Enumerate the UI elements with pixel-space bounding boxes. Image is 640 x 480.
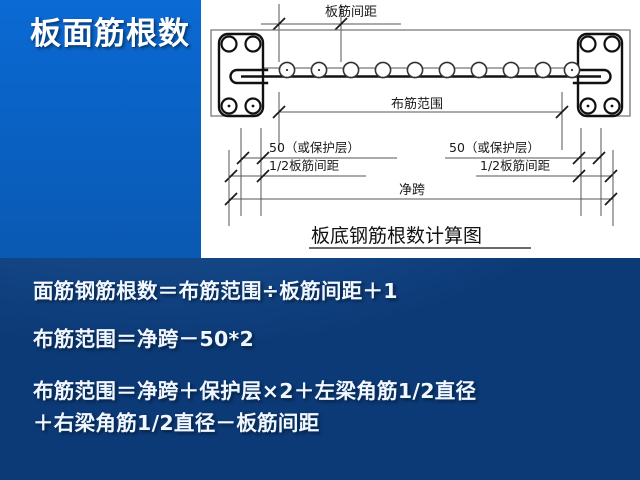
corner-bar — [605, 37, 620, 52]
formula-line-2: 布筋范围＝净跨－50*2 — [33, 322, 254, 352]
formula-list: 面筋钢筋根数＝布筋范围÷板筋间距＋1 布筋范围＝净跨－50*2 布筋范围＝净跨＋… — [0, 262, 640, 480]
label-layout-range: 布筋范围 — [391, 96, 443, 112]
label-bar-spacing: 板筋间距 — [325, 4, 377, 20]
caption-text: 板底钢筋根数计算图 — [311, 225, 482, 247]
page-title: 板面筋根数 — [30, 8, 190, 53]
slide-root: 板面筋根数 板筋间距 — [0, 0, 640, 480]
left-beam-section — [219, 34, 267, 116]
corner-bar — [222, 37, 237, 52]
formula-line-3b: ＋右梁角筋1/2直径－板筋间距 — [33, 406, 320, 436]
corner-bar — [246, 37, 261, 52]
slab-rebar — [241, 62, 601, 77]
right-beam-section — [574, 34, 622, 116]
label-clear-span: 净跨 — [399, 183, 425, 198]
label-half-spacing-left: 1/2板筋间距 — [269, 158, 339, 173]
bar-spacing-dimension: 板筋间距 — [261, 4, 401, 62]
corner-bar — [581, 37, 596, 52]
formula-line-1: 面筋钢筋根数＝布筋范围÷板筋间距＋1 — [33, 274, 398, 304]
label-cover-left: 50（或保护层） — [269, 140, 360, 155]
title-panel: 板面筋根数 — [0, 0, 201, 258]
slab-rebar-diagram: 板筋间距 — [201, 0, 640, 258]
formula-line-3a: 布筋范围＝净跨＋保护层×2＋左梁角筋1/2直径 — [33, 374, 476, 404]
label-half-spacing-right: 1/2板筋间距 — [480, 158, 550, 173]
half-spacing-dimension-left: 1/2板筋间距 — [225, 158, 366, 182]
diagram-caption: 板底钢筋根数计算图 — [309, 225, 531, 248]
diagram-panel: 板筋间距 — [201, 0, 640, 258]
label-cover-right: 50（或保护层） — [449, 140, 540, 155]
